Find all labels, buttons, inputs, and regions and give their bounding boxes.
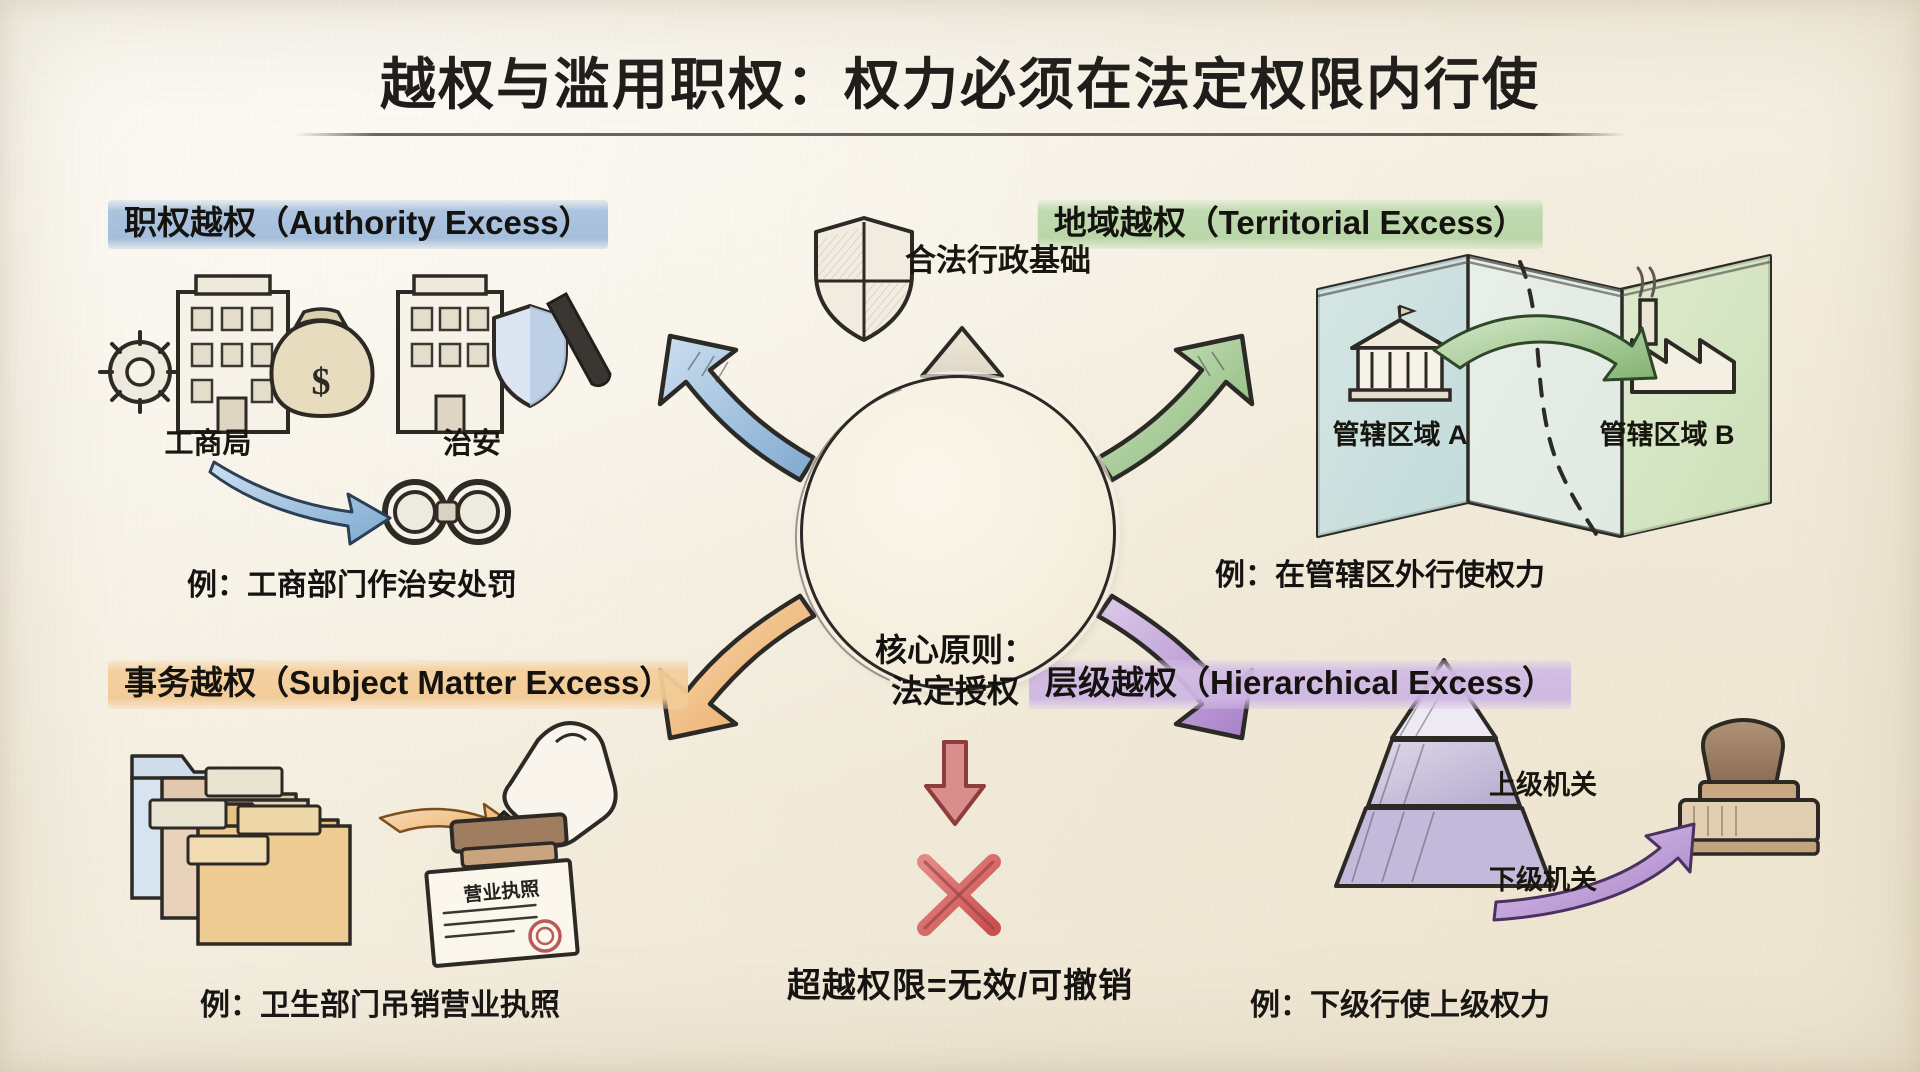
svg-text:营业执照: 营业执照	[463, 877, 541, 907]
gear-icon	[100, 332, 180, 412]
heading-subject-matter-excess: 事务越权（Subject Matter Excess）	[108, 660, 688, 709]
heading-territorial-excess: 地域越权（Territorial Excess）	[1038, 200, 1543, 249]
arrow-to-territorial-excess	[1098, 336, 1252, 480]
infographic-canvas: 越权与滥用职权：权力必须在法定权限内行使	[0, 0, 1920, 1072]
office-building-icon	[178, 276, 288, 432]
title-underline-rule	[295, 133, 1625, 136]
page-title: 越权与滥用职权：权力必须在法定权限内行使	[0, 40, 1920, 121]
core-principle-text: 核心原则： 法定授权	[875, 630, 1035, 712]
result-statement: 超越权限=无效/可撤销	[0, 958, 1920, 1007]
money-bag-icon: $	[271, 309, 372, 416]
heading-hierarchical-excess: 层级越权（Hierarchical Excess）	[1029, 660, 1571, 709]
orange-arrow-icon	[380, 804, 518, 848]
rubber-stamp-icon	[1680, 720, 1818, 854]
label-jurisdiction-zone-a: 管辖区域 A	[1333, 413, 1468, 452]
heading-authority-excess: 职权越权（Authority Excess）	[108, 200, 608, 249]
label-public-security: 治安	[443, 420, 501, 462]
business-license-certificate-icon: 营业执照	[426, 860, 578, 966]
hand-with-stamp-icon	[451, 723, 616, 876]
factory-icon	[1632, 268, 1734, 392]
caption-territorial-excess: 例：在管辖区外行使权力	[1215, 550, 1545, 594]
red-cross-invalid-icon	[925, 862, 993, 928]
label-upper-level-authority: 上级机关	[1489, 763, 1597, 802]
arrow-to-invalid-result	[926, 742, 984, 824]
label-jurisdiction-zone-b: 管辖区域 B	[1600, 413, 1735, 452]
arrow-to-authority-excess	[660, 336, 814, 480]
caption-authority-excess: 例：工商部门作治安处罚	[187, 560, 517, 604]
handcuffs-icon	[385, 482, 508, 542]
blue-arrow-icon	[210, 462, 390, 544]
police-building-icon	[398, 276, 502, 432]
folded-map-icon	[1318, 256, 1770, 536]
svg-text:$: $	[312, 361, 331, 403]
label-lawful-administration-basis: 合法行政基础	[905, 235, 1091, 280]
shield-icon	[816, 218, 912, 340]
file-folders-icon	[132, 756, 350, 944]
label-industry-commerce-bureau: 工商局	[164, 420, 251, 462]
label-lower-level-authority: 下级机关	[1489, 858, 1597, 897]
government-building-icon	[1350, 306, 1450, 400]
shield-baton-icon	[494, 294, 610, 406]
green-arrow-icon	[1434, 316, 1656, 380]
